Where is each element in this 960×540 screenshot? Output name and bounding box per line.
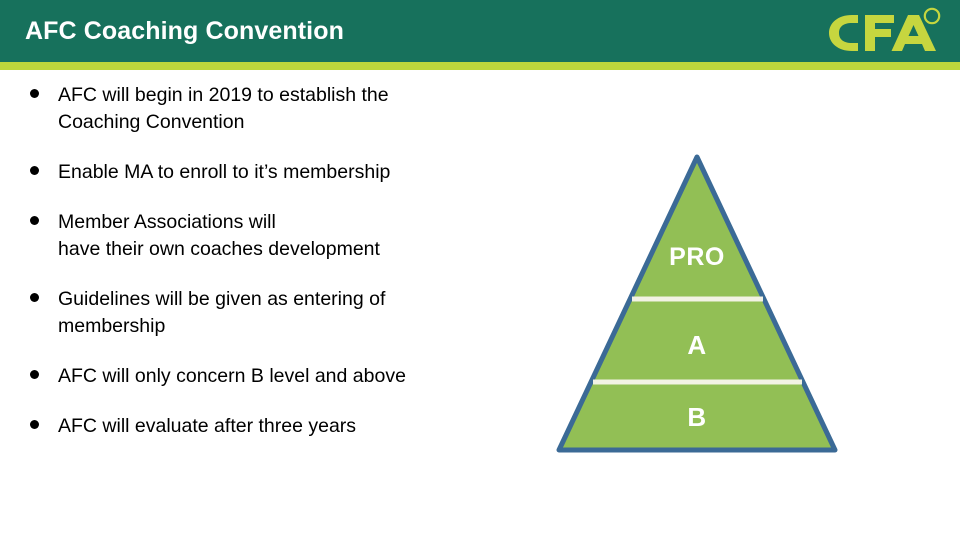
bullet-point-icon <box>30 363 58 379</box>
list-item-text: Enable MA to enroll to it’s membership <box>58 159 530 186</box>
pyramid-tier-label-pro: PRO <box>627 243 767 272</box>
slide: AFC Coaching Convention AFC will begin i… <box>0 0 960 540</box>
list-item: Enable MA to enroll to it’s membership <box>30 159 530 186</box>
bullet-point-icon <box>30 413 58 429</box>
cfa-wordmark <box>829 15 936 51</box>
pyramid-tier-label-b: B <box>627 402 767 433</box>
list-item: Member Associations will have their own … <box>30 209 530 263</box>
list-item: Guidelines will be given as entering of … <box>30 286 530 340</box>
pyramid-tier-label-a: A <box>627 330 767 361</box>
page-title: AFC Coaching Convention <box>25 17 344 46</box>
bullet-point-icon <box>30 209 58 225</box>
list-item-text: AFC will evaluate after three years <box>58 413 530 440</box>
list-item: AFC will only concern B level and above <box>30 363 530 390</box>
list-item-text: Guidelines will be given as entering of … <box>58 286 530 340</box>
list-item: AFC will evaluate after three years <box>30 413 530 440</box>
cfa-logo <box>822 7 942 57</box>
list-item-text: Member Associations will have their own … <box>58 209 530 263</box>
header-accent-strip <box>0 62 960 70</box>
bullet-point-icon <box>30 159 58 175</box>
soccer-ball-icon <box>925 9 939 23</box>
list-item-text: AFC will only concern B level and above <box>58 363 530 390</box>
list-item: AFC will begin in 2019 to establish the … <box>30 82 530 136</box>
coaching-level-pyramid: PRO A B <box>552 150 842 458</box>
list-item-text: AFC will begin in 2019 to establish the … <box>58 82 530 136</box>
bullet-list: AFC will begin in 2019 to establish the … <box>30 82 530 463</box>
bullet-point-icon <box>30 82 58 98</box>
bullet-point-icon <box>30 286 58 302</box>
